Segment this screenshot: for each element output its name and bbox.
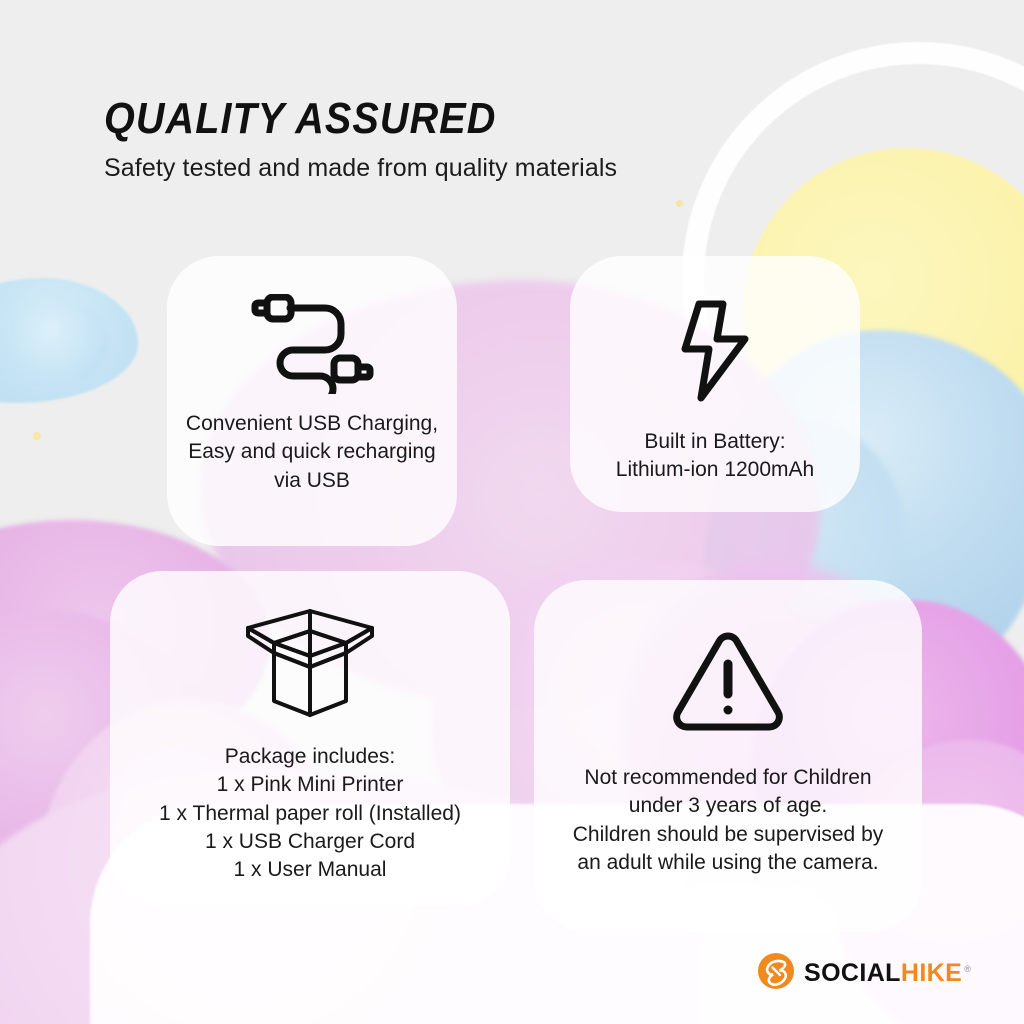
brand-logo[interactable]: SOCIALHIKE®	[757, 952, 971, 995]
infographic-canvas: QUALITY ASSURED Safety tested and made f…	[0, 0, 1024, 1024]
feature-card-warning-text: Not recommended for Children under 3 yea…	[573, 764, 884, 877]
feature-card-package-text: Package includes: 1 x Pink Mini Printer …	[159, 743, 461, 885]
socialhike-swirl-icon	[757, 952, 795, 995]
warning-triangle-icon	[668, 628, 788, 736]
logo-wordmark: SOCIALHIKE®	[804, 961, 971, 986]
open-box-icon	[230, 603, 390, 721]
feature-card-battery-text: Built in Battery: Lithium-ion 1200mAh	[616, 428, 814, 485]
registered-trademark-icon: ®	[964, 964, 971, 974]
yellow-dot-left	[33, 432, 41, 440]
feature-card-warning: Not recommended for Children under 3 yea…	[534, 580, 922, 932]
feature-card-package: Package includes: 1 x Pink Mini Printer …	[110, 571, 510, 907]
logo-text-hike: HIKE	[901, 959, 962, 987]
yellow-dot-top	[676, 200, 683, 207]
page-title: QUALITY ASSURED	[104, 96, 566, 142]
logo-text-social: SOCIAL	[804, 959, 901, 987]
blue-blob-top-left-2	[2, 300, 110, 385]
page-subtitle: Safety tested and made from quality mate…	[104, 154, 617, 183]
usb-cable-icon	[247, 294, 377, 394]
lightning-bolt-icon	[679, 300, 751, 402]
feature-card-usb-text: Convenient USB Charging, Easy and quick …	[186, 410, 438, 495]
feature-card-usb: Convenient USB Charging, Easy and quick …	[167, 256, 457, 546]
feature-card-battery: Built in Battery: Lithium-ion 1200mAh	[570, 256, 860, 512]
blue-blob-top-left	[0, 278, 138, 403]
header: QUALITY ASSURED Safety tested and made f…	[104, 96, 617, 183]
